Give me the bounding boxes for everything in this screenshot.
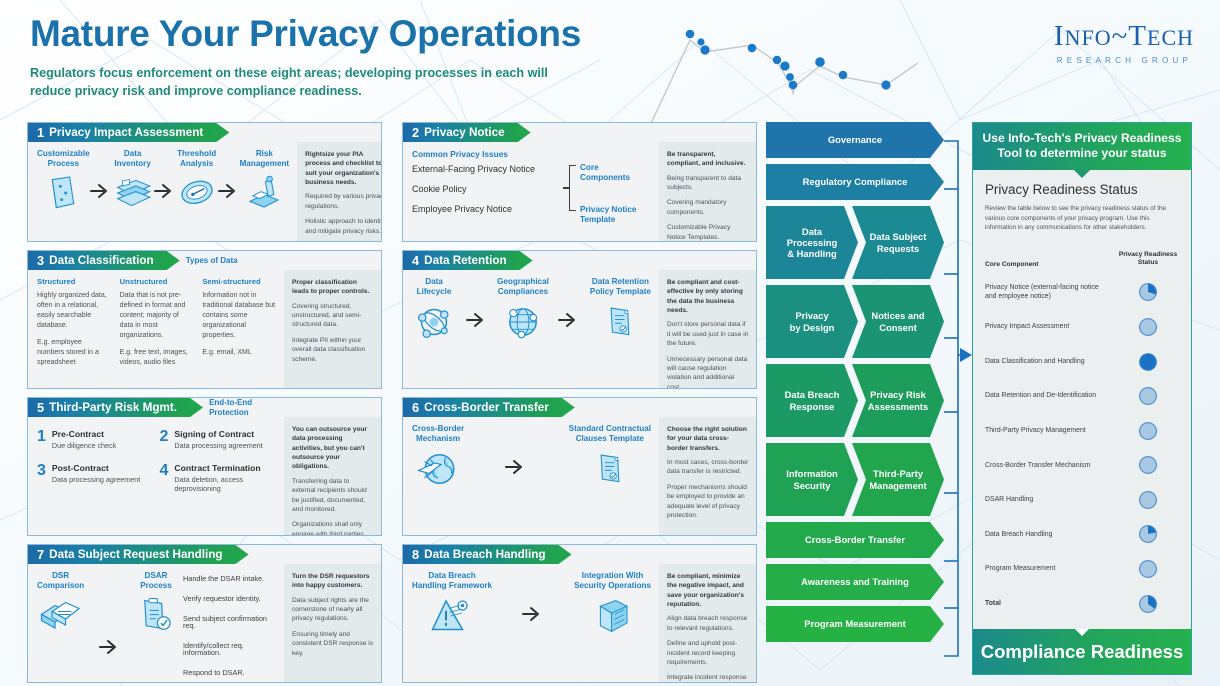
notes-paragraph: Unnecessary personal data will cause reg… [667, 355, 749, 389]
panel-body: DSR Comparison DSAR Process Handle the D… [28, 564, 381, 683]
panel-title: Cross-Border Transfer [424, 401, 549, 414]
notes-paragraph: Integrate incident response as a part of… [667, 673, 749, 683]
column-paragraph: Highly organized data, often in a relati… [37, 291, 111, 331]
flow-step-label: Risk Management [240, 149, 289, 169]
step-subtitle: Due diligence check [52, 441, 116, 450]
flow-step-label: Integration With Security Operations [574, 571, 651, 591]
notes-paragraph: Being transparent to data subjects. [667, 174, 749, 193]
program-component-band-left[interactable]: Data Breach Response [766, 364, 858, 437]
footer-notch-icon [1075, 629, 1089, 636]
flow-step: Data Retention Policy Template [590, 277, 651, 348]
status-pie-icon [1138, 594, 1158, 614]
notice-layout: Common Privacy IssuesExternal-Facing Pri… [412, 149, 651, 225]
flow-step-label: Threshold Analysis [176, 149, 218, 169]
panel-content: DSR Comparison DSAR Process Handle the D… [28, 564, 284, 683]
panel-title-chevron: 3Data Classification [28, 251, 180, 270]
panel-privacy-impact-assessment: 1Privacy Impact AssessmentCustomizable P… [27, 122, 382, 242]
panel-number: 5 [37, 400, 44, 415]
flow-step-label: Data Lifecycle [412, 277, 456, 297]
panel-header: 8Data Breach Handling [403, 545, 756, 564]
program-component-row: Awareness and Training [766, 564, 944, 600]
notes-lead: Choose the right solution for your data … [667, 425, 749, 453]
database-rows-icon [112, 173, 154, 213]
link-core-components[interactable]: Core Components [580, 163, 651, 183]
panel-number: 8 [412, 547, 419, 562]
panel-title-chevron: 6Cross-Border Transfer [403, 398, 575, 417]
flow-arrow [218, 183, 240, 204]
readiness-status-cell [1117, 490, 1179, 510]
info-tech-logo: INFO~TECH RESEARCH GROUP [1054, 22, 1194, 65]
panel-content: Customizable Process Data Inventory Thre… [28, 142, 297, 242]
notes-lead: Proper classification leads to proper co… [292, 278, 374, 297]
program-component-row: Privacy by DesignNotices and Consent [766, 285, 944, 358]
panel-body: StructuredHighly organized data, often i… [28, 270, 381, 388]
program-component-band[interactable]: Regulatory Compliance [766, 164, 944, 200]
readiness-component-label: Program Measurement [985, 564, 1117, 574]
logo-i: I [1054, 20, 1065, 52]
status-pie-icon [1138, 386, 1158, 406]
readiness-status-cell [1117, 352, 1179, 372]
program-component-row: Governance [766, 122, 944, 158]
stacked-documents-icon-wrap [37, 595, 84, 642]
readiness-component-label: Data Retention and De-Identification [985, 391, 1117, 401]
clipboard-icon-wrap [37, 173, 90, 218]
notice-list-column: Common Privacy IssuesExternal-Facing Pri… [412, 149, 559, 225]
panel-data-breach-handling: 8Data Breach HandlingData Breach Handlin… [402, 544, 757, 683]
list-header: Common Privacy Issues [412, 149, 559, 159]
panel-title-chevron: 8Data Breach Handling [403, 545, 572, 564]
flow-step: Data Lifecycle [412, 277, 456, 348]
dsar-steps-list: Handle the DSAR intake.Verify requestor … [183, 571, 276, 683]
step-number: 2 [160, 429, 169, 451]
dsar-step: Verify requestor identity. [183, 595, 276, 602]
readiness-row: Privacy Notice (external-facing notice a… [985, 275, 1179, 310]
flow-step-label: Standard Contractual Clauses Template [569, 424, 651, 444]
panel-content: 1 Pre-Contract Due diligence check 2 Sig… [28, 417, 284, 536]
page-title: Mature Your Privacy Operations [30, 14, 581, 55]
program-component-band-right[interactable]: Third-Party Management [852, 443, 944, 516]
status-pie-icon [1138, 490, 1158, 510]
notes-paragraph: Ensuring timely and consistent DSR respo… [292, 630, 374, 658]
privacy-readiness-panel: Use Info-Tech's Privacy Readiness Tool t… [972, 122, 1192, 675]
panel-number: 6 [412, 400, 419, 415]
program-component-band-left[interactable]: Privacy by Design [766, 285, 858, 358]
readiness-component-label: DSAR Handling [985, 495, 1117, 505]
notes-paragraph: Required by various privacy regulations. [305, 192, 382, 211]
flow-step: Customizable Process [37, 149, 90, 218]
list-item: Employee Privacy Notice [412, 205, 559, 214]
panel-notes: Proper classification leads to proper co… [284, 270, 381, 388]
flow-step-label: Cross-Border Mechanism [412, 424, 464, 444]
panel-header: 7Data Subject Request Handling [28, 545, 381, 564]
notes-lead: Turn the DSR requestors into happy custo… [292, 572, 374, 591]
notes-lead: Rightsize your PIA process and checklist… [305, 150, 382, 187]
data-types-columns: StructuredHighly organized data, often i… [37, 277, 276, 376]
notes-paragraph: Customizable Privacy Notice Templates. [667, 223, 749, 242]
panel-header: 4Data Retention [403, 251, 756, 270]
flow-step-label: DSR Comparison [37, 571, 84, 591]
privacy-program-components-stack: GovernanceRegulatory ComplianceData Proc… [766, 122, 944, 648]
column-paragraph: Data that is not pre-defined in format a… [120, 291, 194, 341]
checklist-icon-wrap [135, 595, 177, 642]
molecule-icon [412, 301, 456, 343]
readiness-row: Privacy Impact Assessment [985, 310, 1179, 345]
dsar-step: Handle the DSAR intake. [183, 575, 276, 582]
readiness-status-cell [1117, 282, 1179, 302]
panel-header: 3Data ClassificationTypes of Data [28, 251, 381, 270]
readiness-table-header: Core Component Privacy Readiness Status [985, 251, 1179, 268]
step-text: Contract Termination Data deletion, acce… [174, 463, 276, 494]
flow-arrow-icon [218, 183, 240, 199]
program-component-row: Information SecurityThird-Party Manageme… [766, 443, 944, 516]
gauge-icon [176, 173, 218, 213]
flow-arrow-icon [505, 459, 527, 475]
notes-paragraph: Covering mandatory components. [667, 198, 749, 217]
flow-step-label: Customizable Process [37, 149, 90, 169]
notes-paragraph: Holistic approach to identify and mitiga… [305, 217, 382, 236]
gauge-icon-wrap [176, 173, 218, 218]
server-stack-icon-wrap [574, 595, 651, 642]
flow-arrow [505, 459, 527, 480]
flow-step-label: Data Breach Handling Framework [412, 571, 492, 591]
step-number: 3 [37, 463, 46, 494]
readiness-row: Cross-Border Transfer Mechanism [985, 448, 1179, 483]
readiness-component-label: Third-Party Privacy Management [985, 426, 1117, 436]
flow-step-label: DSAR Process [135, 571, 177, 591]
dsar-step: Send subject confirmation req. [183, 615, 276, 630]
panel-body: Common Privacy IssuesExternal-Facing Pri… [403, 142, 756, 242]
process-flow: Customizable Process Data Inventory Thre… [37, 149, 289, 218]
clipboard-icon [43, 173, 83, 213]
notice-links-column: Core Components Privacy Notice Template [569, 149, 651, 225]
warning-gear-icon-wrap [412, 595, 492, 642]
status-pie-icon [1138, 524, 1158, 544]
panel-data-subject-request-handling: 7Data Subject Request HandlingDSR Compar… [27, 544, 382, 683]
bracket-stem-icon [563, 187, 570, 189]
panel-data-retention: 4Data RetentionData Lifecycle Geographic… [402, 250, 757, 389]
program-component-band-right[interactable]: Privacy Risk Assessments [852, 364, 944, 437]
step-text: Pre-Contract Due diligence check [52, 429, 116, 451]
flow-arrow-icon [154, 183, 176, 199]
process-flow: Data Breach Handling Framework Integrati… [412, 571, 651, 642]
panel-body: 1 Pre-Contract Due diligence check 2 Sig… [28, 417, 381, 536]
panel-body: Customizable Process Data Inventory Thre… [28, 142, 381, 242]
flow-step: DSR Comparison [37, 571, 84, 642]
readiness-component-label: Data Classification and Handling [985, 357, 1117, 367]
server-stack-icon [592, 595, 634, 637]
program-component-band[interactable]: Program Measurement [766, 606, 944, 642]
readiness-component-label: Privacy Notice (external-facing notice a… [985, 283, 1117, 302]
notes-paragraph: Data subject rights are the cornerstone … [292, 596, 374, 624]
panel-data-classification: 3Data ClassificationTypes of DataStructu… [27, 250, 382, 389]
panel-header: 1Privacy Impact Assessment [28, 123, 381, 142]
document-icon-wrap [590, 301, 651, 348]
notes-paragraph: Align data breach response to relevant r… [667, 614, 749, 633]
logo-tagline: RESEARCH GROUP [1054, 56, 1192, 65]
flow-arrow [99, 639, 121, 660]
readiness-row: Data Classification and Handling [985, 344, 1179, 379]
lifecycle-step: 1 Pre-Contract Due diligence check [37, 429, 154, 451]
flow-arrow [522, 606, 544, 627]
dsar-step: Identify/collect req. information. [183, 642, 276, 657]
logo-ech: ECH [1147, 25, 1194, 50]
panel-title: Privacy Notice [424, 126, 505, 139]
lifecycle-step: 3 Post-Contract Data processing agreemen… [37, 463, 154, 494]
notes-paragraph: Don't store personal data if it will be … [667, 320, 749, 348]
column-text: Highly organized data, often in a relati… [37, 291, 111, 369]
compliance-readiness-label: Compliance Readiness [981, 641, 1184, 663]
program-component-row: Program Measurement [766, 606, 944, 642]
program-component-band[interactable]: Governance [766, 122, 944, 158]
panel-number: 4 [412, 253, 419, 268]
flow-arrow-icon [90, 183, 112, 199]
readiness-description: Review the table below to see the privac… [985, 204, 1179, 233]
readiness-row: DSAR Handling [985, 483, 1179, 518]
readiness-body: Privacy Readiness Status Review the tabl… [973, 170, 1191, 621]
step-title: Pre-Contract [52, 429, 116, 439]
panel-title: Privacy Impact Assessment [49, 126, 203, 139]
program-component-band-right[interactable]: Data Subject Requests [852, 206, 944, 279]
lifecycle-step: 2 Signing of Contract Data processing ag… [160, 429, 277, 451]
logo-nfo: NFO [1065, 25, 1112, 50]
panel-body: Cross-Border Mechanism Standard Contract… [403, 417, 756, 535]
panel-number: 7 [37, 547, 44, 562]
bracket-icon [569, 165, 576, 211]
privacy-issues-list: External-Facing Privacy NoticeCookie Pol… [412, 165, 559, 214]
panel-side-label: End-to-End Protection [203, 398, 252, 417]
status-pie-icon [1138, 317, 1158, 337]
logo-tilde-t: ~T [1112, 20, 1147, 52]
flow-arrow-icon [522, 606, 544, 622]
panel-cross-border-transfer: 6Cross-Border TransferCross-Border Mecha… [402, 397, 757, 536]
column-header: Structured [37, 277, 111, 286]
panel-notes: Be compliant and cost-effective by only … [659, 270, 756, 389]
notes-lead: Be compliant and cost-effective by only … [667, 278, 749, 315]
flow-step-label: Geographical Compliances [497, 277, 549, 297]
notes-paragraph: Integrate PII within your overall data c… [292, 336, 374, 364]
program-component-band-left[interactable]: Information Security [766, 443, 858, 516]
program-component-row: Regulatory Compliance [766, 164, 944, 200]
flow-arrow [558, 312, 580, 333]
step-text: Post-Contract Data processing agreement [52, 463, 140, 494]
risk-blocks-icon-wrap [240, 173, 289, 218]
notes-paragraph: Covering structured, unstructured, and s… [292, 302, 374, 330]
notes-paragraph: Proper mechanisms should be employed to … [667, 483, 749, 520]
compliance-readiness-footer: Compliance Readiness [973, 629, 1191, 674]
checklist-icon [135, 595, 177, 637]
panel-number: 3 [37, 253, 44, 268]
status-pie-icon [1138, 282, 1158, 302]
flow-step: DSAR Process [135, 571, 177, 642]
network-node-dots [686, 30, 891, 90]
readiness-row: Data Breach Handling [985, 517, 1179, 552]
readiness-component-label: Cross-Border Transfer Mechanism [985, 461, 1117, 471]
lifecycle-step: 4 Contract Termination Data deletion, ac… [160, 463, 277, 494]
notes-paragraph: Transferring data to external recipients… [292, 477, 374, 514]
flow-arrow [154, 183, 176, 204]
column-text: Information not in traditional database … [202, 291, 276, 358]
dsr-layout: DSR Comparison DSAR Process Handle the D… [37, 571, 276, 683]
panel-third-party-risk-mgmt: 5Third-Party Risk Mgmt.End-to-End Protec… [27, 397, 382, 536]
notes-paragraph: Define and uphold post-incident record k… [667, 639, 749, 667]
step-title: Contract Termination [174, 463, 276, 473]
globe-network-icon-wrap [497, 301, 549, 348]
panel-side-label: Types of Data [180, 256, 238, 266]
database-rows-icon-wrap [112, 173, 154, 218]
panel-content: Data Lifecycle Geographical Compliances … [403, 270, 659, 389]
data-type-column: StructuredHighly organized data, often i… [37, 277, 111, 376]
readiness-status-cell [1117, 594, 1179, 614]
column-paragraph: E.g. free text, images, videos, audio fi… [120, 348, 194, 368]
panel-header: 6Cross-Border Transfer [403, 398, 756, 417]
flow-step: Cross-Border Mechanism [412, 424, 464, 495]
link-privacy-notice-template[interactable]: Privacy Notice Template [580, 205, 651, 225]
program-component-row: Data Breach ResponsePrivacy Risk Assessm… [766, 364, 944, 437]
stacked-documents-icon [38, 595, 84, 637]
readiness-row: Data Retention and De-Identification [985, 379, 1179, 414]
panel-notes: Be compliant, minimize the negative impa… [659, 564, 756, 683]
col-header-core-component: Core Component [985, 261, 1117, 268]
data-type-column: UnstructuredData that is not pre-defined… [120, 277, 194, 376]
panel-notes: Be transparent, compliant, and inclusive… [659, 142, 756, 242]
document-icon [601, 301, 639, 343]
dsar-step: Respond to DSAR. [183, 669, 276, 676]
readiness-status-cell [1117, 524, 1179, 544]
page-header: Mature Your Privacy Operations Regulator… [30, 14, 581, 100]
flow-step: Threshold Analysis [176, 149, 218, 218]
panel-body: Data Breach Handling Framework Integrati… [403, 564, 756, 683]
readiness-banner: Use Info-Tech's Privacy Readiness Tool t… [973, 123, 1191, 170]
panel-title-chevron: 5Third-Party Risk Mgmt. [28, 398, 203, 417]
process-flow: DSR Comparison DSAR Process [37, 571, 177, 683]
document-icon [591, 448, 629, 490]
notes-lead: Be transparent, compliant, and inclusive… [667, 150, 749, 169]
panel-content: Common Privacy IssuesExternal-Facing Pri… [403, 142, 659, 242]
step-subtitle: Data deletion, access deprovisioning [174, 475, 276, 494]
col-header-status: Privacy Readiness Status [1117, 251, 1179, 268]
readiness-status-cell [1117, 455, 1179, 475]
panel-header: 2Privacy Notice [403, 123, 756, 142]
arrow-to-readiness-icon [960, 348, 972, 362]
column-paragraph: Information not in traditional database … [202, 291, 276, 341]
readiness-row: Third-Party Privacy Management [985, 413, 1179, 448]
notes-paragraph: Organizations shall only engage with thi… [292, 520, 374, 536]
panel-title-chevron: 7Data Subject Request Handling [28, 545, 249, 564]
step-number: 4 [160, 463, 169, 494]
readiness-status-cell [1117, 421, 1179, 441]
globe-plane-icon-wrap [412, 448, 464, 495]
program-component-row: Data Processing & HandlingData Subject R… [766, 206, 944, 279]
panel-header: 5Third-Party Risk Mgmt.End-to-End Protec… [28, 398, 381, 417]
column-header: Semi-structured [202, 277, 276, 286]
panel-notes: You can outsource your data processing a… [284, 417, 381, 536]
column-paragraph: E.g. email, XML [202, 348, 276, 358]
step-subtitle: Data processing agreement [52, 475, 140, 484]
program-component-band[interactable]: Cross-Border Transfer [766, 522, 944, 558]
column-header: Unstructured [120, 277, 194, 286]
page-subtitle: Regulators focus enforcement on these ei… [30, 65, 550, 101]
flow-arrow-icon [99, 639, 121, 655]
readiness-banner-text: Use Info-Tech's Privacy Readiness Tool t… [983, 131, 1182, 160]
readiness-status-cell [1117, 559, 1179, 579]
panel-title: Data Breach Handling [424, 548, 545, 561]
notes-paragraph: In most cases, cross-border data transfe… [667, 458, 749, 477]
program-component-band[interactable]: Awareness and Training [766, 564, 944, 600]
flow-arrow-icon [466, 312, 488, 328]
panel-content: StructuredHighly organized data, often i… [28, 270, 284, 388]
notes-lead: Be compliant, minimize the negative impa… [667, 572, 749, 609]
flow-step: Data Inventory [112, 149, 154, 218]
panel-number: 2 [412, 125, 419, 140]
process-flow: Cross-Border Mechanism Standard Contract… [412, 424, 651, 495]
flow-step: Standard Contractual Clauses Template [569, 424, 651, 495]
list-item: Cookie Policy [412, 185, 559, 194]
flow-arrow-icon [558, 312, 580, 328]
panel-title: Data Retention [424, 254, 506, 267]
logo-wordmark: INFO~TECH [1054, 22, 1194, 51]
program-component-row: Cross-Border Transfer [766, 522, 944, 558]
risk-blocks-icon [243, 173, 285, 213]
document-icon-wrap [569, 448, 651, 495]
process-flow: Data Lifecycle Geographical Compliances … [412, 277, 651, 348]
readiness-component-label: Privacy Impact Assessment [985, 322, 1117, 332]
molecule-icon-wrap [412, 301, 456, 348]
notes-lead: You can outsource your data processing a… [292, 425, 374, 472]
flow-step: Risk Management [240, 149, 289, 218]
panel-privacy-notice: 2Privacy NoticeCommon Privacy IssuesExte… [402, 122, 757, 242]
panel-title-chevron: 1Privacy Impact Assessment [28, 123, 229, 142]
step-title: Signing of Contract [174, 429, 262, 439]
panel-title: Third-Party Risk Mgmt. [49, 401, 177, 414]
panel-notes: Turn the DSR requestors into happy custo… [284, 564, 381, 683]
panel-content: Cross-Border Mechanism Standard Contract… [403, 417, 659, 535]
globe-network-icon [501, 301, 545, 343]
data-type-column: Semi-structuredInformation not in tradit… [202, 277, 276, 376]
list-item: External-Facing Privacy Notice [412, 165, 559, 174]
program-component-band-right[interactable]: Notices and Consent [852, 285, 944, 358]
panel-title-chevron: 4Data Retention [403, 251, 533, 270]
panel-number: 1 [37, 125, 44, 140]
readiness-component-label: Total [985, 599, 1117, 609]
readiness-row: Total [985, 586, 1179, 621]
readiness-table-rows: Privacy Notice (external-facing notice a… [985, 275, 1179, 621]
panel-title: Data Classification [49, 254, 154, 267]
readiness-status-cell [1117, 386, 1179, 406]
readiness-component-label: Data Breach Handling [985, 530, 1117, 540]
step-subtitle: Data processing agreement [174, 441, 262, 450]
step-title: Post-Contract [52, 463, 140, 473]
column-text: Data that is not pre-defined in format a… [120, 291, 194, 369]
flow-arrow [90, 183, 112, 204]
program-component-band-left[interactable]: Data Processing & Handling [766, 206, 858, 279]
status-pie-icon [1138, 559, 1158, 579]
panel-notes: Rightsize your PIA process and checklist… [297, 142, 382, 242]
globe-plane-icon [415, 448, 461, 490]
flow-step: Geographical Compliances [497, 277, 549, 348]
column-paragraph: E.g. employee numbers stored in a spread… [37, 338, 111, 368]
flow-step: Data Breach Handling Framework [412, 571, 492, 642]
flow-step: Integration With Security Operations [574, 571, 651, 642]
status-pie-icon [1138, 455, 1158, 475]
flow-step-label: Data Inventory [112, 149, 154, 169]
step-text: Signing of Contract Data processing agre… [174, 429, 262, 451]
step-number: 1 [37, 429, 46, 451]
readiness-row: Program Measurement [985, 552, 1179, 587]
panel-notes: Choose the right solution for your data … [659, 417, 756, 535]
flow-arrow [466, 312, 488, 333]
panel-body: Data Lifecycle Geographical Compliances … [403, 270, 756, 389]
readiness-title: Privacy Readiness Status [985, 182, 1179, 197]
